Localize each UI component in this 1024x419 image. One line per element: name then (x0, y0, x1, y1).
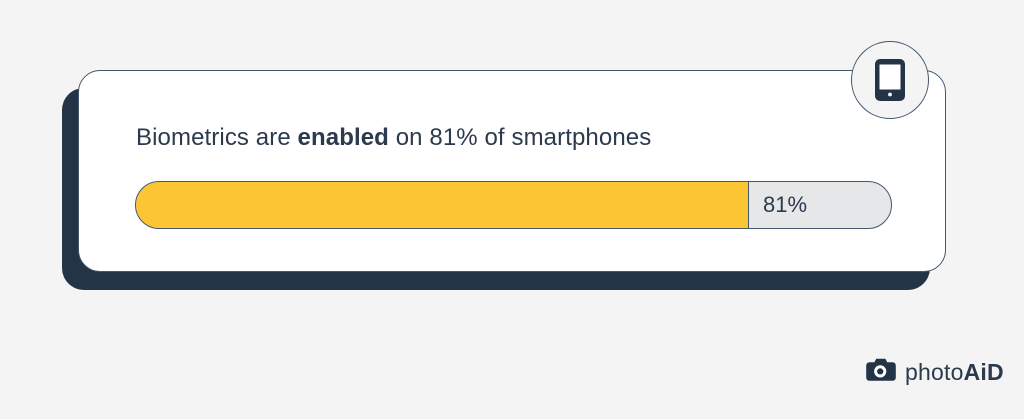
logo-text: photoAiD (905, 359, 1004, 386)
headline-emphasis: enabled (298, 124, 389, 151)
logo-text-light: photo (905, 359, 964, 385)
smartphone-icon (875, 59, 905, 101)
statistic-card (78, 70, 946, 272)
headline-part-1: Biometrics are (136, 124, 298, 151)
progress-bar-value-label: 81% (763, 181, 807, 229)
photoaid-logo: photoAiD (866, 358, 1004, 387)
smartphone-badge (851, 41, 929, 119)
headline-part-2: on 81% of smartphones (389, 124, 651, 151)
infographic-stage: Biometrics are enabled on 81% of smartph… (0, 0, 1024, 419)
camera-icon (866, 358, 896, 387)
page-title: Biometrics are enabled on 81% of smartph… (136, 122, 651, 154)
logo-text-bold: AiD (964, 359, 1004, 385)
progress-bar-fill (135, 181, 749, 229)
